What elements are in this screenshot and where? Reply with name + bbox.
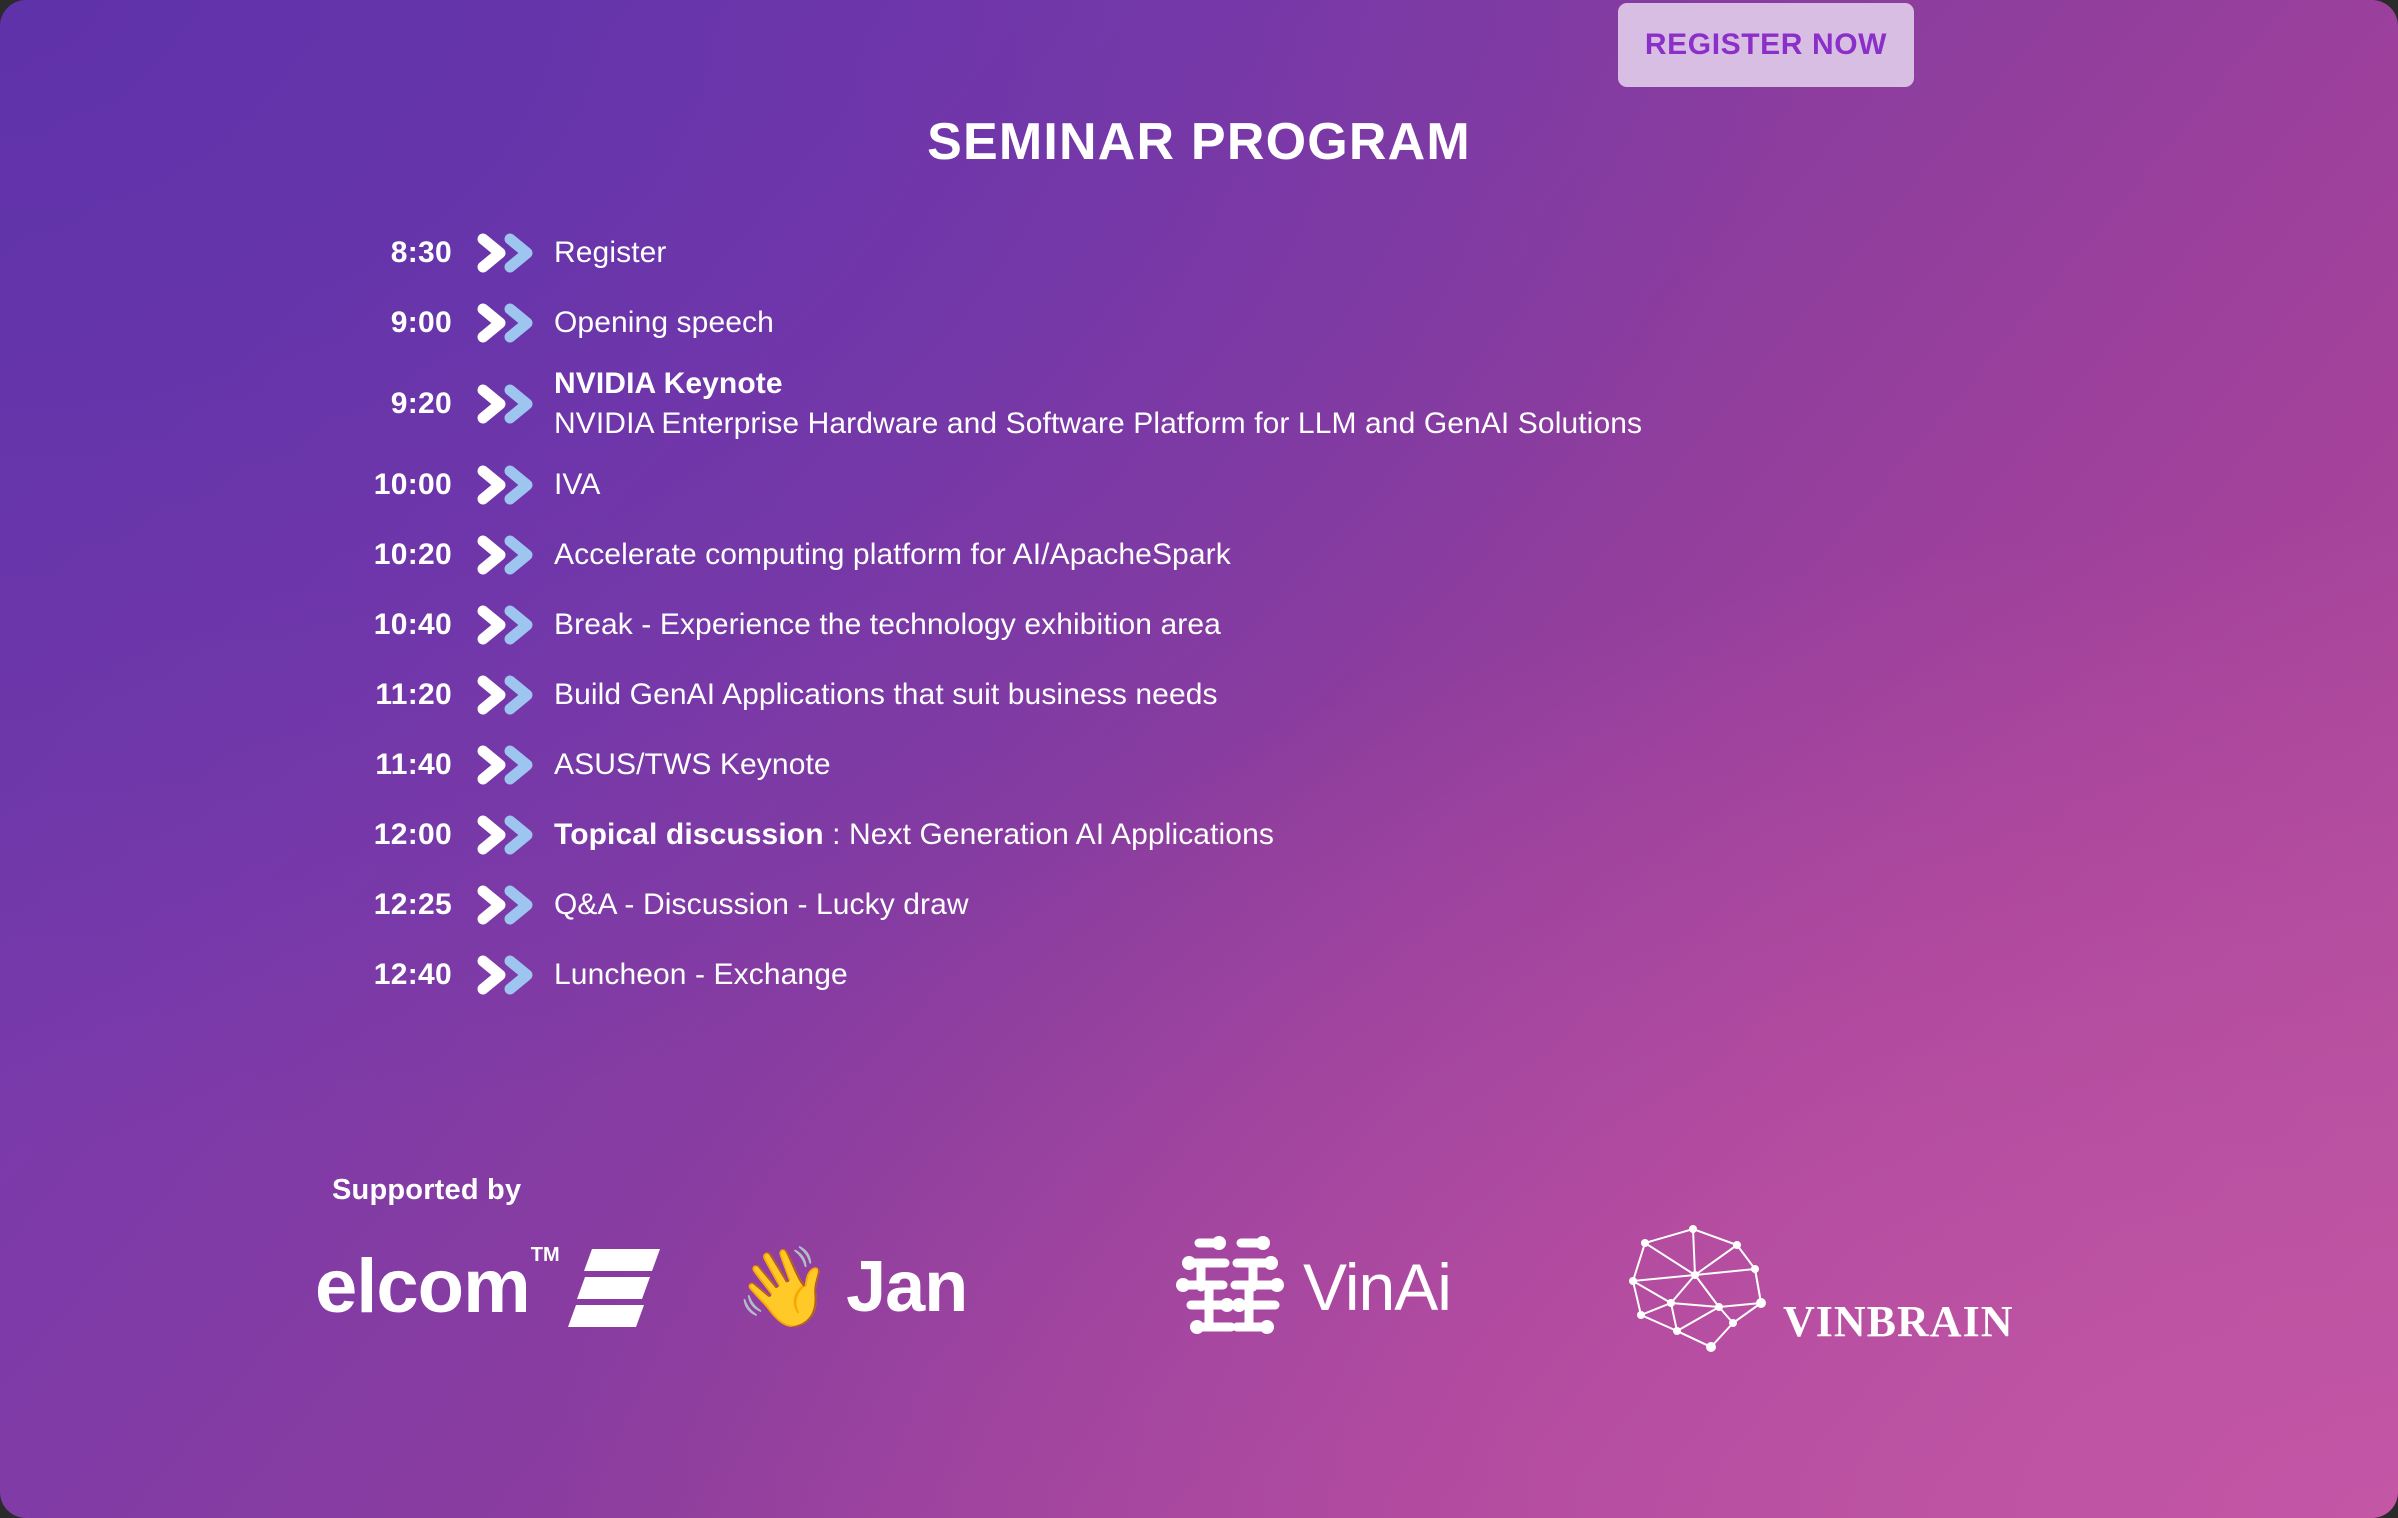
trademark-icon: TM bbox=[531, 1245, 560, 1265]
elcom-text: elcom bbox=[315, 1244, 530, 1329]
double-chevron-right-icon bbox=[474, 812, 542, 858]
schedule-description: Register bbox=[554, 233, 667, 273]
page-title: SEMINAR PROGRAM bbox=[0, 112, 2398, 172]
schedule-description: Luncheon - Exchange bbox=[554, 955, 848, 995]
double-chevron-right-icon bbox=[474, 602, 542, 648]
schedule-description: IVA bbox=[554, 465, 600, 505]
elcom-e-mark-icon bbox=[566, 1245, 662, 1329]
schedule-row: 9:00Opening speech bbox=[332, 288, 2132, 358]
double-chevron-right-icon bbox=[474, 742, 542, 788]
schedule-subtitle: NVIDIA Enterprise Hardware and Software … bbox=[554, 404, 1642, 444]
schedule-row: 10:20Accelerate computing platform for A… bbox=[332, 520, 2132, 590]
seminar-program-poster: REGISTER NOW SEMINAR PROGRAM 8:30Registe… bbox=[0, 0, 2398, 1518]
schedule-time: 12:00 bbox=[332, 818, 452, 852]
register-now-button[interactable]: REGISTER NOW bbox=[1618, 3, 1914, 87]
schedule-description: Accelerate computing platform for AI/Apa… bbox=[554, 535, 1231, 575]
sponsor-logos: elcom TM 👋 Jan bbox=[300, 1212, 2200, 1362]
schedule-time: 9:00 bbox=[332, 306, 452, 340]
schedule-description: Break - Experience the technology exhibi… bbox=[554, 605, 1221, 645]
double-chevron-right-icon bbox=[474, 672, 542, 718]
schedule-title: Accelerate computing platform for AI/Apa… bbox=[554, 538, 1231, 571]
schedule-title: Topical discussion bbox=[554, 818, 824, 851]
schedule-description: NVIDIA KeynoteNVIDIA Enterprise Hardware… bbox=[554, 364, 1642, 444]
schedule-time: 12:25 bbox=[332, 888, 452, 922]
logo-vinai: VinAi bbox=[1165, 1217, 1605, 1357]
schedule-title: Opening speech bbox=[554, 306, 774, 339]
schedule-row: 12:25Q&A - Discussion - Lucky draw bbox=[332, 870, 2132, 940]
double-chevron-right-icon bbox=[474, 532, 542, 578]
double-chevron-right-icon bbox=[474, 462, 542, 508]
schedule-row: 12:40Luncheon - Exchange bbox=[332, 940, 2132, 1010]
supported-by-label: Supported by bbox=[332, 1174, 521, 1207]
schedule-title: Break - Experience the technology exhibi… bbox=[554, 608, 1221, 641]
logo-vinbrain: VINBRAIN bbox=[1605, 1217, 2015, 1357]
schedule-title: Q&A - Discussion - Lucky draw bbox=[554, 888, 969, 921]
double-chevron-right-icon bbox=[474, 882, 542, 928]
schedule-time: 10:20 bbox=[332, 538, 452, 572]
double-chevron-right-icon bbox=[474, 300, 542, 346]
schedule-title: ASUS/TWS Keynote bbox=[554, 748, 831, 781]
schedule-row: 11:20Build GenAI Applications that suit … bbox=[332, 660, 2132, 730]
brain-network-icon bbox=[1615, 1219, 1793, 1355]
schedule-row: 12:00Topical discussion : Next Generatio… bbox=[332, 800, 2132, 870]
schedule-time: 8:30 bbox=[332, 236, 452, 270]
vinbrain-wordmark: VINBRAIN bbox=[1783, 1296, 2013, 1347]
double-chevron-right-icon bbox=[474, 381, 542, 427]
schedule-title: Register bbox=[554, 236, 667, 269]
schedule-time: 10:40 bbox=[332, 608, 452, 642]
schedule-row: 9:20NVIDIA KeynoteNVIDIA Enterprise Hard… bbox=[332, 358, 2132, 450]
schedule-time: 11:40 bbox=[332, 748, 452, 782]
schedule-time: 11:20 bbox=[332, 678, 452, 712]
schedule-time: 12:40 bbox=[332, 958, 452, 992]
schedule-title: IVA bbox=[554, 468, 600, 501]
schedule-row: 11:40ASUS/TWS Keynote bbox=[332, 730, 2132, 800]
schedule-description: Q&A - Discussion - Lucky draw bbox=[554, 885, 969, 925]
schedule-description: Opening speech bbox=[554, 303, 774, 343]
schedule-title: Luncheon - Exchange bbox=[554, 958, 848, 991]
vinai-wordmark: VinAi bbox=[1303, 1249, 1451, 1325]
logo-jan: 👋 Jan bbox=[715, 1217, 1165, 1357]
jan-wordmark: Jan bbox=[846, 1246, 967, 1328]
schedule-time: 9:20 bbox=[332, 387, 452, 421]
double-chevron-right-icon bbox=[474, 230, 542, 276]
logo-elcom: elcom TM bbox=[300, 1217, 715, 1357]
schedule-description: Topical discussion : Next Generation AI … bbox=[554, 815, 1274, 855]
schedule-description: ASUS/TWS Keynote bbox=[554, 745, 831, 785]
schedule-row: 10:00IVA bbox=[332, 450, 2132, 520]
waving-hand-icon: 👋 bbox=[735, 1248, 832, 1326]
schedule-title: NVIDIA Keynote bbox=[554, 367, 783, 400]
schedule-row: 8:30Register bbox=[332, 218, 2132, 288]
schedule-description: Build GenAI Applications that suit busin… bbox=[554, 675, 1218, 715]
elcom-wordmark: elcom TM bbox=[315, 1249, 530, 1325]
schedule-title: Build GenAI Applications that suit busin… bbox=[554, 678, 1218, 711]
schedule-row: 10:40Break - Experience the technology e… bbox=[332, 590, 2132, 660]
schedule-time: 10:00 bbox=[332, 468, 452, 502]
vinai-circuit-icon bbox=[1175, 1231, 1291, 1343]
schedule-title-trailing: : Next Generation AI Applications bbox=[824, 818, 1274, 851]
double-chevron-right-icon bbox=[474, 952, 542, 998]
schedule-list: 8:30Register9:00Opening speech9:20NVIDIA… bbox=[332, 218, 2132, 1010]
